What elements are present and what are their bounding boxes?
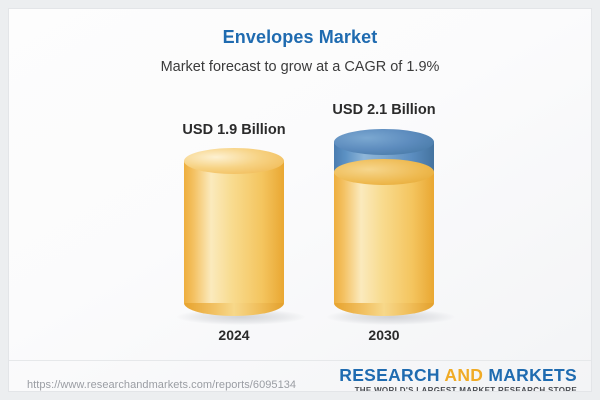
category-label-2030: 2030 [284,327,484,343]
chart-card: Envelopes Market Market forecast to grow… [8,8,592,392]
plot-area: USD 1.9 Billion 2024 USD 2.1 Billion [9,9,592,349]
footer: https://www.researchandmarkets.com/repor… [9,360,592,392]
logo-text-markets: MARKETS [483,365,577,385]
cylinder-top-2030 [334,129,434,155]
cylinder-divider-2030 [334,159,434,185]
brand-logo[interactable]: RESEARCH AND MARKETS THE WORLD'S LARGEST… [339,366,577,392]
bar-2030[interactable]: USD 2.1 Billion 2030 [334,9,434,349]
cylinder-2024 [184,148,284,316]
logo-tagline: THE WORLD'S LARGEST MARKET RESEARCH STOR… [339,386,577,392]
cylinder-body-2024 [184,161,284,303]
logo-text-research: RESEARCH [339,365,444,385]
bar-value-label-2024: USD 1.9 Billion [134,122,334,138]
logo-text-and: AND [444,365,483,385]
bar-2024[interactable]: USD 1.9 Billion 2024 [184,9,284,349]
bar-value-label-2030: USD 2.1 Billion [284,102,484,118]
cylinder-2030 [334,129,434,316]
logo-wordmark: RESEARCH AND MARKETS [339,366,577,384]
source-url[interactable]: https://www.researchandmarkets.com/repor… [27,379,296,391]
cylinder-top-2024 [184,148,284,174]
